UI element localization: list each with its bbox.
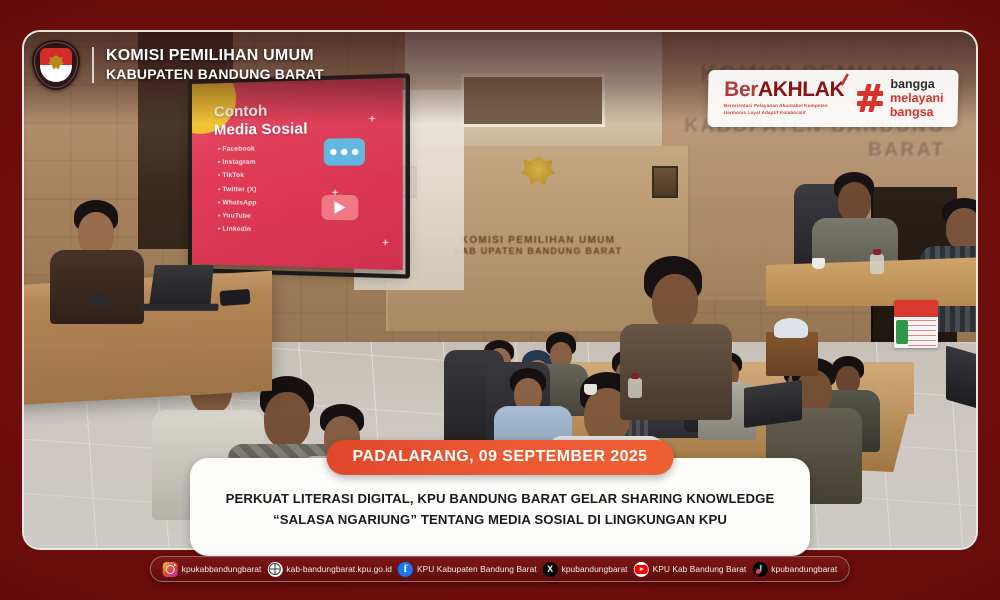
x-twitter-icon[interactable]: X [543, 562, 558, 577]
social-item-facebook[interactable]: f KPU Kabupaten Bandung Barat [398, 562, 537, 577]
kpu-logo-icon [32, 40, 80, 90]
wall-picture [652, 166, 678, 198]
social-item-tiktok[interactable]: kpubandungbarat [752, 562, 837, 577]
garuda-emblem-icon [521, 157, 555, 189]
header-line-1: KOMISI PEMILIHAN UMUM [106, 47, 324, 65]
tiktok-icon[interactable] [752, 562, 767, 577]
bottle [628, 378, 642, 398]
social-label: KPU Kabupaten Bandung Barat [417, 564, 537, 574]
social-item-youtube[interactable]: KPU Kab Bandung Barat [634, 562, 747, 577]
bottle [870, 254, 884, 274]
berakhlak-main: AKHLAK [758, 78, 845, 101]
cup [584, 384, 597, 395]
caption-line-2: “SALASA NGARIUNG” TENTANG MEDIA SOSIAL D… [273, 509, 727, 530]
list-item: WhatsApp [218, 199, 257, 206]
phone [220, 289, 251, 306]
social-label: kpubandungbarat [771, 564, 837, 574]
list-item: YouTube [218, 212, 257, 220]
laptop [149, 265, 213, 306]
slide-title: Contoh Media Sosial [214, 101, 308, 140]
berakhlak-prefix: Ber [724, 78, 758, 101]
social-item-x-twitter[interactable]: X kpubandungbarat [543, 562, 628, 577]
poster-frame: KOMISI PEMILIHAN UMUM KABUPATEN BANDUNG … [0, 0, 1000, 600]
social-label: KPU Kab Bandung Barat [653, 564, 747, 574]
presentation-screen: Contoh Media Sosial Facebook Instagram T… [192, 78, 403, 270]
list-item: LinkedIn [218, 226, 257, 234]
header: KOMISI PEMILIHAN UMUM KABUPATEN BANDUNG … [32, 40, 324, 90]
social-label: kpubandungbarat [562, 564, 628, 574]
berakhlak-badge: BerAKHLAK Berorientasi Pelayanan Akuntab… [708, 70, 959, 127]
slide-bullet-list: Facebook Instagram TikTok Twitter (X) Wh… [218, 145, 257, 239]
header-line-2: KABUPATEN BANDUNG BARAT [106, 66, 324, 83]
social-item-website[interactable]: kab-bandungbarat.kpu.go.id [267, 562, 392, 577]
desk-calendar [894, 300, 938, 348]
cup [812, 258, 825, 269]
berakhlak-wordmark: BerAKHLAK [724, 79, 845, 100]
list-item: Instagram [218, 159, 257, 166]
header-divider [92, 47, 94, 83]
play-button-icon [322, 195, 359, 220]
laptop [744, 380, 802, 428]
youtube-icon[interactable] [634, 562, 649, 577]
list-item: Twitter (X) [218, 186, 257, 193]
facebook-icon[interactable]: f [398, 562, 413, 577]
date-badge: PADALARANG, 09 SEPTEMBER 2025 [327, 440, 674, 475]
caption-line-1: PERKUAT LITERASI DIGITAL, KPU BANDUNG BA… [226, 488, 775, 509]
hashtag-icon [857, 84, 884, 112]
bangga-melayani-bangsa-slogan: bangga melayani bangsa [890, 77, 944, 119]
social-item-instagram[interactable]: kpukabbandungbarat [163, 562, 262, 577]
check-mark-icon [834, 71, 850, 86]
chat-bubble-icon [324, 138, 365, 166]
list-item: Facebook [218, 145, 257, 152]
website-icon[interactable] [267, 562, 282, 577]
social-label: kpukabbandungbarat [182, 564, 262, 574]
list-item: TikTok [218, 172, 257, 179]
social-label: kab-bandungbarat.kpu.go.id [286, 564, 392, 574]
berakhlak-subtitle: Berorientasi Pelayanan Akuntabel Kompete… [724, 103, 844, 117]
header-title: KOMISI PEMILIHAN UMUM KABUPATEN BANDUNG … [106, 47, 324, 82]
social-media-bar: kpukabbandungbarat kab-bandungbarat.kpu.… [150, 556, 850, 582]
instagram-icon[interactable] [163, 562, 178, 577]
mouse [90, 294, 110, 307]
tissue-box [766, 332, 818, 376]
